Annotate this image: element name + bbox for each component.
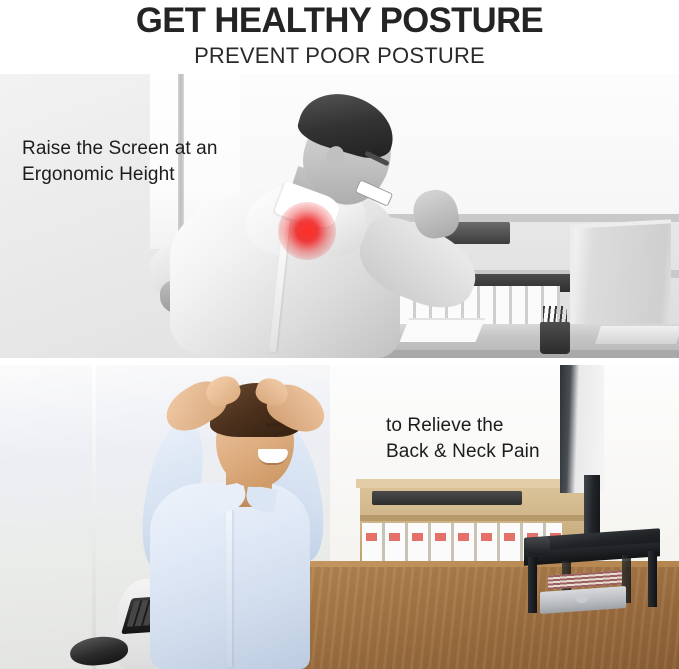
page-title: GET HEALTHY POSTURE xyxy=(3,2,675,39)
bookshelf-dark-object xyxy=(372,491,522,505)
panel-divider xyxy=(0,358,679,365)
panel-relieved-posture: to Relieve the Back & Neck Pain xyxy=(0,365,679,669)
pain-indicator-neck xyxy=(278,202,336,260)
page-subtitle: PREVENT POOR POSTURE xyxy=(0,39,679,70)
caption-relieve-pain: to Relieve the Back & Neck Pain xyxy=(386,413,540,465)
monitor-screen xyxy=(560,365,604,493)
riser-leg-front-left xyxy=(528,557,537,613)
header: GET HEALTHY POSTURE PREVENT POOR POSTURE xyxy=(0,0,679,74)
panel-poor-posture: Raise the Screen at an Ergonomic Height xyxy=(0,74,679,358)
wall-seam xyxy=(92,365,96,669)
bookshelf-top-board xyxy=(356,479,594,488)
pen-cup xyxy=(540,322,570,354)
monitor-stand-neck xyxy=(584,475,600,539)
bookshelf-mid-board xyxy=(360,515,590,521)
caption-raise-screen: Raise the Screen at an Ergonomic Height xyxy=(22,136,217,188)
man-eye xyxy=(266,423,280,427)
man-shirt-placket xyxy=(226,507,232,667)
riser-corner-knob xyxy=(524,537,550,555)
riser-leg-front-right xyxy=(648,551,657,607)
desk-keyboard xyxy=(595,326,679,344)
